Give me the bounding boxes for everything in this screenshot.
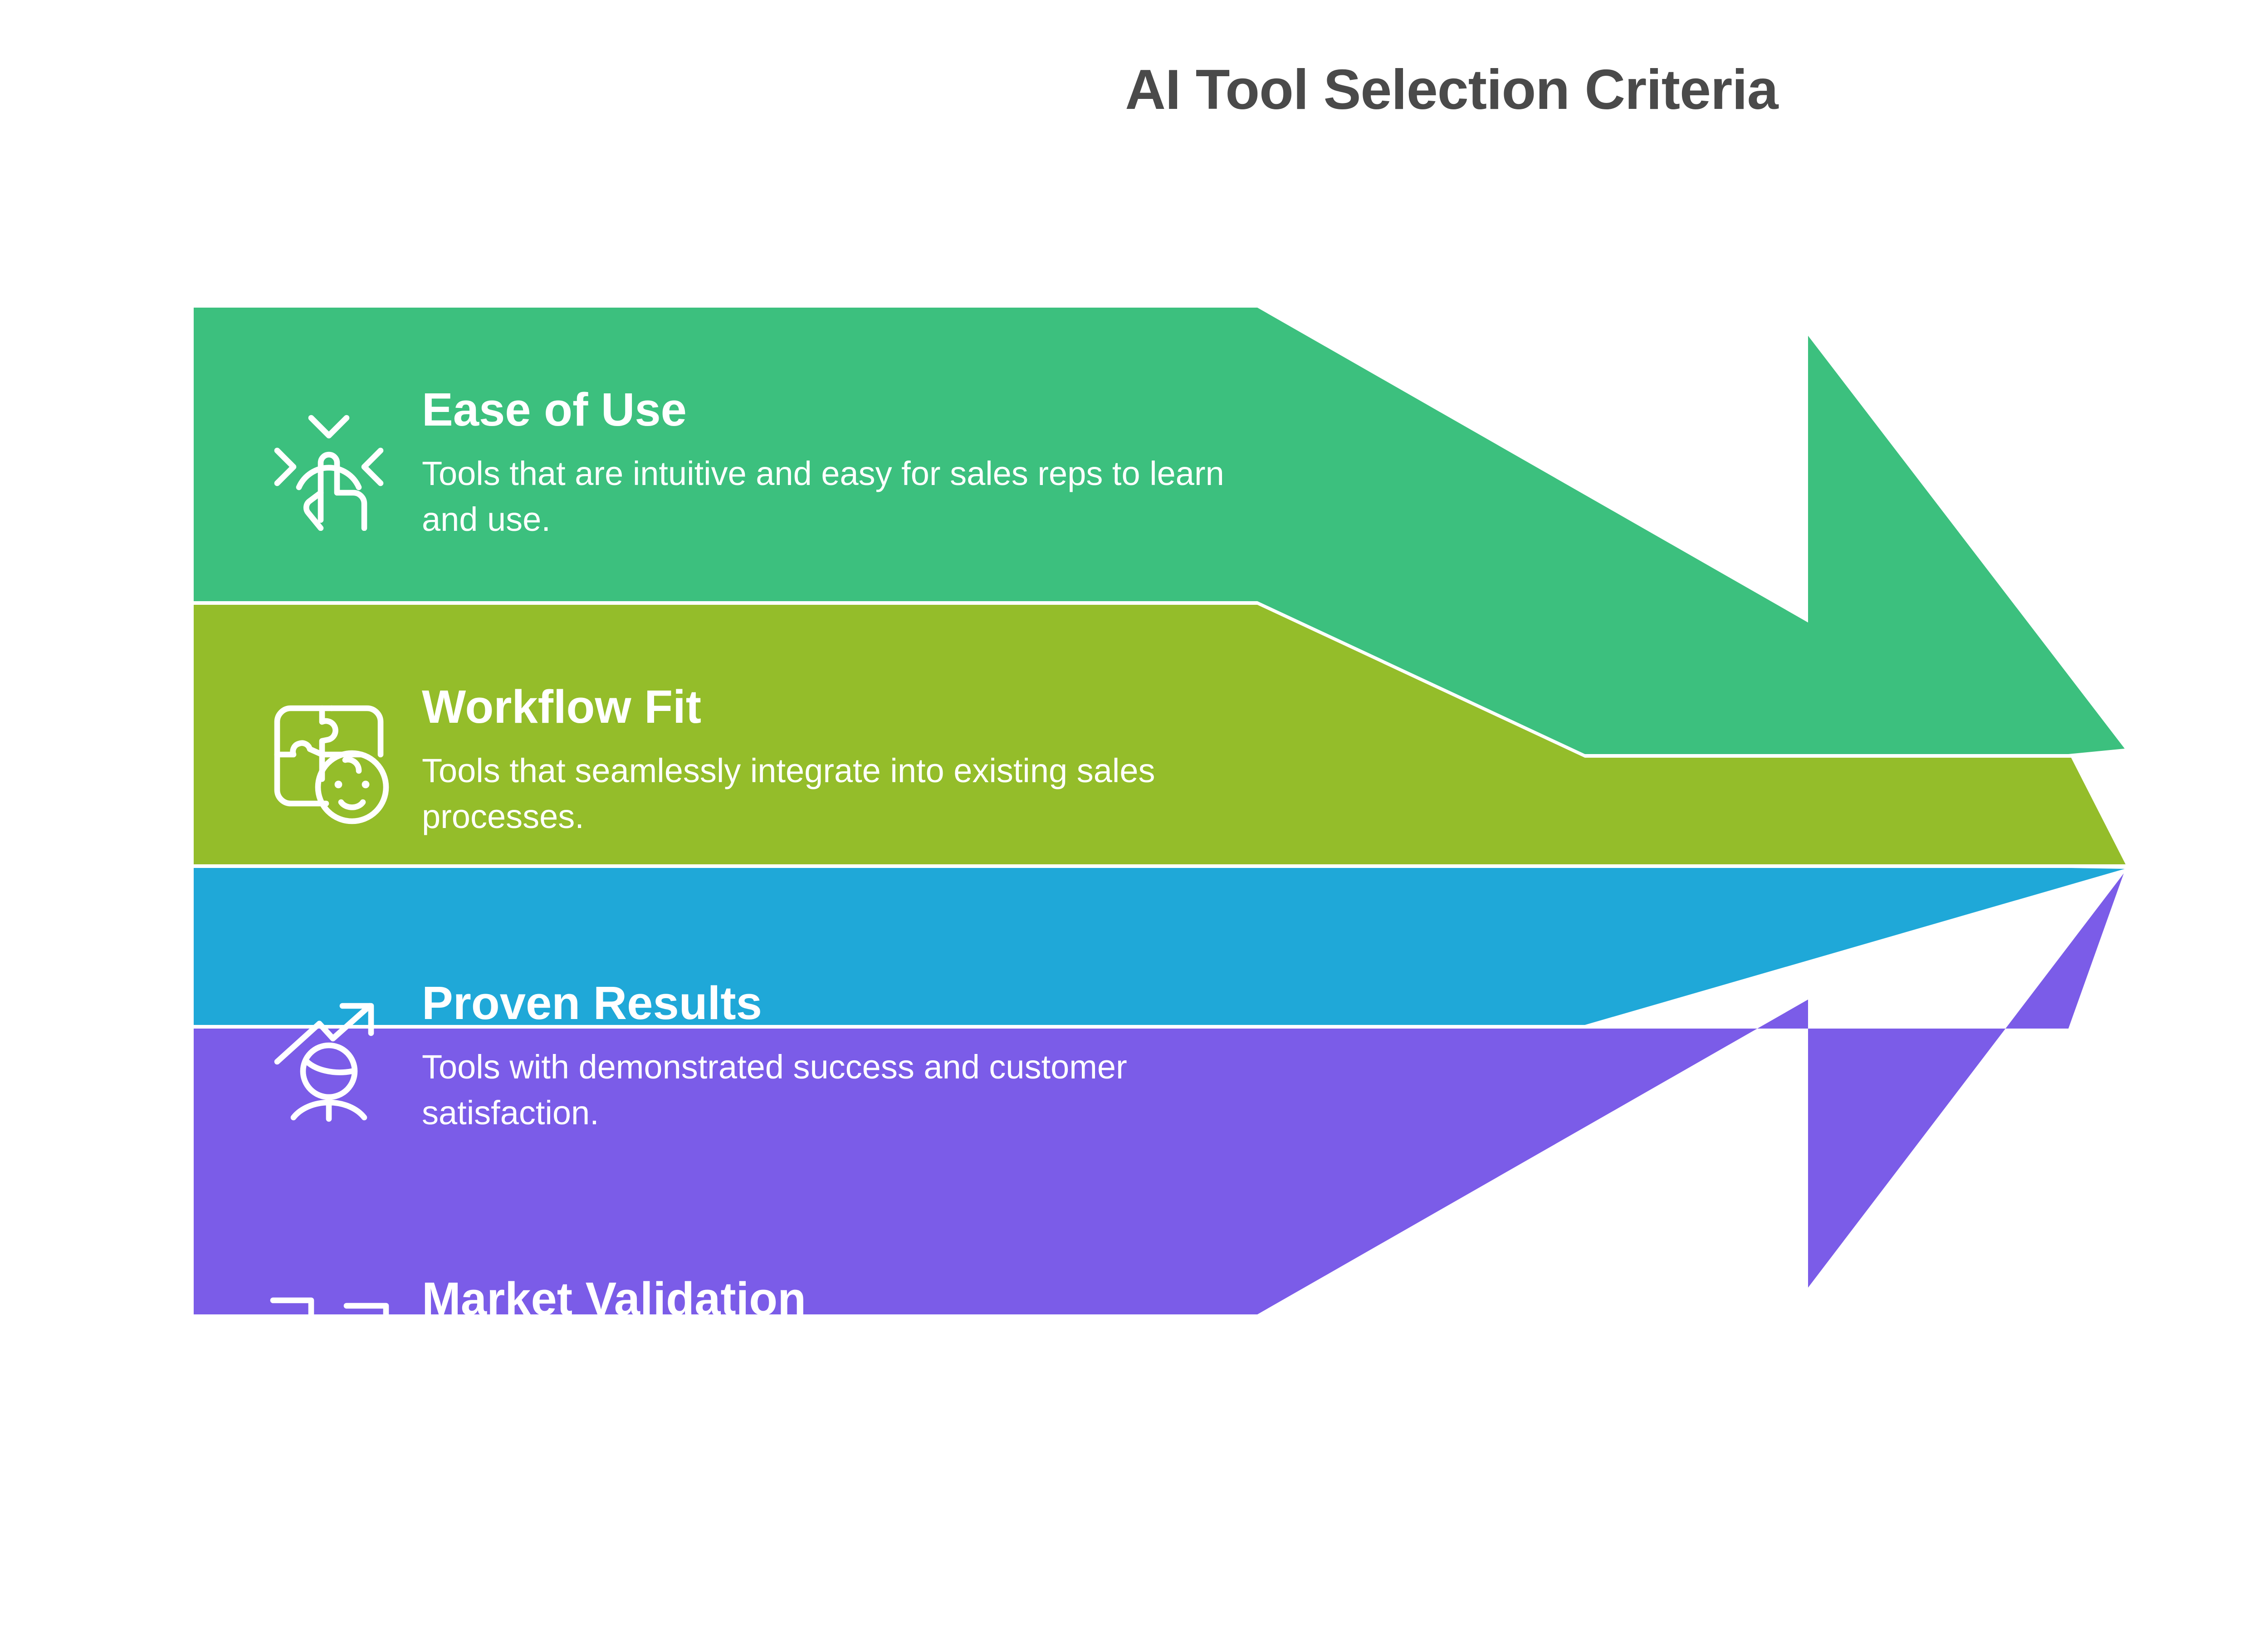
crowd-flags-icon xyxy=(254,1275,404,1429)
tap-gesture-icon xyxy=(254,386,404,540)
band-description: Tools recognized and adopted by a wide r… xyxy=(422,1340,1284,1431)
band-description: Tools that seamlessly integrate into exi… xyxy=(422,748,1284,839)
band-content-ease-of-use: Ease of Use Tools that are intuitive and… xyxy=(254,318,1297,608)
band-content-market-validation: Market Validation Tools recognized and a… xyxy=(254,1207,1297,1497)
puzzle-smiley-icon xyxy=(254,683,404,837)
band-description: Tools with demonstrated success and cust… xyxy=(422,1044,1284,1136)
band-text-ease-of-use: Ease of Use Tools that are intuitive and… xyxy=(404,383,1284,543)
band-text-workflow-fit: Workflow Fit Tools that seamlessly integ… xyxy=(404,681,1284,840)
band-heading: Workflow Fit xyxy=(422,681,1284,733)
band-heading: Proven Results xyxy=(422,977,1284,1029)
band-description: Tools that are intuitive and easy for sa… xyxy=(422,451,1284,542)
band-text-proven-results: Proven Results Tools with demonstrated s… xyxy=(404,977,1284,1136)
band-heading: Ease of Use xyxy=(422,383,1284,436)
band-content-proven-results: Proven Results Tools with demonstrated s… xyxy=(254,911,1297,1201)
band-text-market-validation: Market Validation Tools recognized and a… xyxy=(404,1273,1284,1432)
band-content-workflow-fit: Workflow Fit Tools that seamlessly integ… xyxy=(254,615,1297,905)
band-heading: Market Validation xyxy=(422,1273,1284,1325)
growth-person-icon xyxy=(254,979,404,1133)
